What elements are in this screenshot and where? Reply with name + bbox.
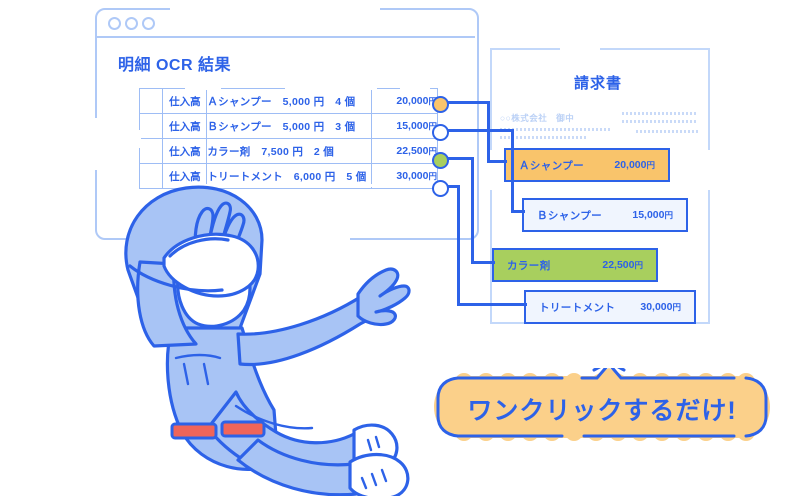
cell-blank bbox=[140, 114, 163, 139]
table-row: 仕入高 Ｂシャンプー 5,000 円 3 個 15,000円 bbox=[140, 114, 438, 139]
connector-line bbox=[487, 101, 490, 163]
cell-kind: 仕入高 bbox=[163, 89, 207, 114]
cell-amount: 15,000円 bbox=[371, 114, 437, 139]
connector-line bbox=[511, 129, 514, 213]
invoice-item-amount: 22,500円 bbox=[602, 259, 656, 271]
placeholder-line bbox=[636, 130, 698, 133]
table-row: 仕入高 カラー剤 7,500 円 2 個 22,500円 bbox=[140, 139, 438, 164]
invoice-item-amount: 20,000円 bbox=[614, 159, 668, 171]
amount-value: 15,000 bbox=[396, 120, 428, 132]
page-title: 明細 OCR 結果 bbox=[118, 51, 231, 75]
cell-description: Ｂシャンプー 5,000 円 3 個 bbox=[207, 114, 371, 139]
table-border-gap bbox=[400, 87, 430, 90]
connector-line bbox=[457, 185, 460, 305]
cell-blank bbox=[140, 139, 163, 164]
window-dot-maximize-icon[interactable] bbox=[142, 17, 155, 30]
table-border-gap bbox=[185, 87, 221, 90]
connector-line bbox=[511, 210, 525, 213]
connector-line bbox=[444, 101, 490, 104]
window-border-gap-left bbox=[88, 118, 102, 170]
invoice-item-label: Ａシャンプー bbox=[506, 158, 584, 173]
callout-banner: ワンクリックするだけ! bbox=[434, 368, 770, 446]
cell-amount: 20,000円 bbox=[371, 89, 437, 114]
cell-kind: 仕入高 bbox=[163, 114, 207, 139]
amount-value: 30,000 bbox=[640, 301, 672, 313]
connector-node-orange[interactable] bbox=[432, 96, 449, 113]
connector-node-white[interactable] bbox=[432, 180, 449, 197]
invoice-title: 請求書 bbox=[490, 72, 706, 93]
ocr-table-body: 仕入高 Ａシャンプー 5,000 円 4 個 20,000円 仕入高 Ｂシャンプ… bbox=[140, 89, 438, 189]
invoice-row-item-color[interactable]: カラー剤 22,500円 bbox=[492, 248, 658, 282]
cell-blank bbox=[140, 89, 163, 114]
connector-line bbox=[487, 160, 507, 163]
invoice-border-gap-right bbox=[700, 150, 714, 190]
window-dot-close-icon[interactable] bbox=[108, 17, 121, 30]
connector-line bbox=[457, 303, 527, 306]
cell-amount: 22,500円 bbox=[371, 139, 437, 164]
cell-kind: 仕入高 bbox=[163, 139, 207, 164]
invoice-row-item-b[interactable]: Ｂシャンプー 15,000円 bbox=[522, 198, 688, 232]
belt-right bbox=[222, 422, 264, 436]
placeholder-line bbox=[622, 112, 698, 115]
cell-description: カラー剤 7,500 円 2 個 bbox=[207, 139, 371, 164]
placeholder-line bbox=[622, 120, 698, 123]
invoice-row-item-treatment[interactable]: トリートメント 30,000円 bbox=[524, 290, 696, 324]
ocr-result-table: 仕入高 Ａシャンプー 5,000 円 4 個 20,000円 仕入高 Ｂシャンプ… bbox=[139, 88, 438, 189]
callout-text: ワンクリックするだけ! bbox=[434, 368, 770, 446]
connector-line bbox=[471, 261, 495, 264]
connector-line bbox=[471, 157, 474, 263]
table-row: 仕入高 Ａシャンプー 5,000 円 4 個 20,000円 bbox=[140, 89, 438, 114]
amount-value: 22,500 bbox=[396, 145, 428, 157]
invoice-item-label: カラー剤 bbox=[494, 258, 551, 273]
currency-unit: 円 bbox=[646, 160, 655, 170]
placeholder-line bbox=[500, 128, 610, 131]
table-border-gap bbox=[285, 87, 377, 90]
connector-node-white[interactable] bbox=[432, 124, 449, 141]
currency-unit: 円 bbox=[672, 302, 681, 312]
window-border-gap-top bbox=[170, 2, 380, 16]
illustration-canvas: 明細 OCR 結果 仕入高 Ａシャンプー 5,000 円 4 個 20,000円… bbox=[0, 0, 806, 496]
invoice-item-label: トリートメント bbox=[526, 300, 615, 315]
invoice-row-item-a[interactable]: Ａシャンプー 20,000円 bbox=[504, 148, 670, 182]
invoice-addressee: ○○株式会社 御中 bbox=[500, 112, 574, 124]
invoice-item-label: Ｂシャンプー bbox=[524, 208, 602, 223]
hand-right bbox=[358, 269, 409, 324]
window-titlebar-divider bbox=[95, 36, 475, 38]
currency-unit: 円 bbox=[664, 210, 673, 220]
table-border-gap bbox=[138, 130, 141, 148]
connector-node-green[interactable] bbox=[432, 152, 449, 169]
connector-line bbox=[444, 129, 514, 132]
invoice-item-amount: 15,000円 bbox=[632, 209, 686, 221]
shoe-front bbox=[350, 455, 408, 496]
invoice-item-amount: 30,000円 bbox=[640, 301, 694, 313]
amount-value: 20,000 bbox=[396, 95, 428, 107]
vr-character-illustration bbox=[110, 178, 440, 496]
amount-value: 15,000 bbox=[632, 209, 664, 221]
amount-value: 22,500 bbox=[602, 259, 634, 271]
belt-left bbox=[172, 424, 216, 438]
currency-unit: 円 bbox=[634, 260, 643, 270]
window-dot-minimize-icon[interactable] bbox=[125, 17, 138, 30]
cell-description: Ａシャンプー 5,000 円 4 個 bbox=[207, 89, 371, 114]
invoice-border-gap-top bbox=[560, 42, 600, 56]
amount-value: 20,000 bbox=[614, 159, 646, 171]
